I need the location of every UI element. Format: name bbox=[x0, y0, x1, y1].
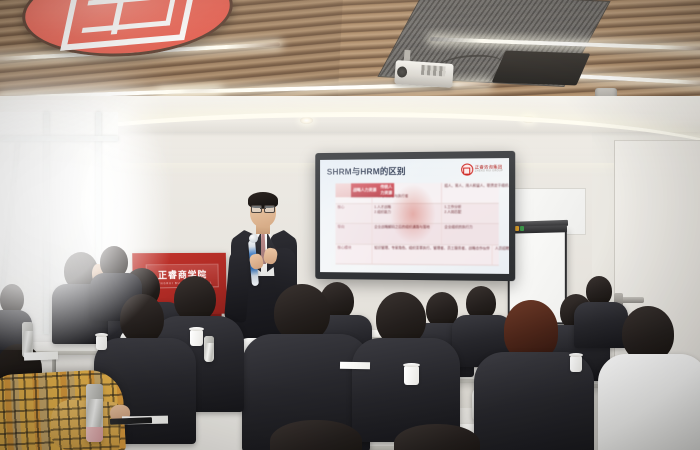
attendee-plaid-jacket bbox=[0, 369, 126, 450]
paper-cup[interactable] bbox=[190, 330, 203, 346]
table-col-2-header: 传统人力资源 bbox=[378, 183, 394, 197]
classroom-scene: SHRM与HRM的区别 正睿咨询集团 ZHENG RUI GROUP 战略人力资… bbox=[0, 0, 700, 450]
person-torso-white-shirt bbox=[598, 354, 700, 450]
person-head-auburn bbox=[504, 300, 558, 360]
document-sheet[interactable] bbox=[340, 362, 370, 370]
row-col2: 企业组织的执行力 bbox=[441, 224, 498, 244]
row-col1: 企业战略解码之后的组织通路与落地 bbox=[371, 224, 441, 244]
projector-lens-icon bbox=[397, 66, 408, 78]
ceiling-logo-mark-icon bbox=[60, 0, 198, 51]
thermos-flask[interactable] bbox=[204, 336, 214, 362]
table-col-1-header: 战略人力资源 bbox=[351, 183, 378, 197]
table-header-row: 战略人力资源 传统人力资源 bbox=[336, 183, 395, 198]
slide-comparison-table: 战略人力资源 传统人力资源 定位 1.业务伙伴 2.变革推动者 3.战略规划者与… bbox=[336, 183, 499, 266]
person-torso bbox=[574, 302, 628, 348]
row-col1: 知识管理、专家角色、组织变革执行、管理者、员工服务者、战略合作伙伴 bbox=[371, 244, 492, 264]
ceiling-projector bbox=[394, 60, 454, 88]
slide-corporate-logo: 正睿咨询集团 ZHENG RUI GROUP bbox=[461, 163, 503, 175]
thermos-flask[interactable] bbox=[86, 384, 103, 442]
door-handle[interactable] bbox=[618, 297, 644, 303]
table-row: 核心模块 知识管理、专家角色、组织变革执行、管理者、员工服务者、战略合作伙伴 人… bbox=[336, 244, 499, 266]
table-row: 导向 企业战略解码之后的组织通路与落地 企业组织的执行力 bbox=[336, 224, 499, 245]
table-row: 核心 1.人才战略 2.组织能力 1.工作分析 2.人岗匹配 bbox=[336, 203, 499, 224]
row-label: 核心 bbox=[336, 204, 372, 223]
microphone-head-icon bbox=[249, 234, 258, 243]
row-col1: 1.人才战略 2.组织能力 bbox=[371, 203, 441, 223]
row-col2: 人员招聘、岗位设计、绩效考核与管理、行政管理、员工关怀 bbox=[492, 245, 509, 266]
window-sash bbox=[0, 142, 19, 301]
marker-yellow-icon bbox=[515, 226, 519, 231]
person-head bbox=[120, 294, 164, 344]
document-sheet[interactable] bbox=[24, 351, 58, 360]
paper-cup[interactable] bbox=[404, 366, 419, 385]
presentation-screen: SHRM与HRM的区别 正睿咨询集团 ZHENG RUI GROUP 战略人力资… bbox=[320, 158, 509, 274]
slide-logo-en: ZHENG RUI GROUP bbox=[475, 170, 503, 173]
table-col-0-header bbox=[336, 183, 352, 197]
marker-green-icon bbox=[520, 226, 524, 231]
paper-cup[interactable] bbox=[570, 356, 582, 372]
window-mullion-v1 bbox=[44, 112, 49, 334]
row-label: 核心模块 bbox=[336, 244, 372, 264]
projector-keypad bbox=[421, 65, 446, 77]
row-col2: 招人、育人、用人和留人、职责定于组织人员服务 bbox=[441, 182, 509, 202]
paper-cup[interactable] bbox=[96, 336, 107, 350]
glasses-icon bbox=[250, 205, 276, 211]
row-col2: 1.工作分析 2.人岗匹配 bbox=[441, 203, 498, 223]
slide-title: SHRM与HRM的区别 bbox=[327, 165, 406, 178]
smart-display[interactable]: SHRM与HRM的区别 正睿咨询集团 ZHENG RUI GROUP 战略人力资… bbox=[315, 151, 515, 281]
row-label: 导向 bbox=[336, 224, 372, 243]
ceiling-dark-panel bbox=[492, 51, 591, 86]
window-mullion-h1 bbox=[0, 136, 118, 141]
slide-logo-seal-icon bbox=[461, 163, 473, 175]
